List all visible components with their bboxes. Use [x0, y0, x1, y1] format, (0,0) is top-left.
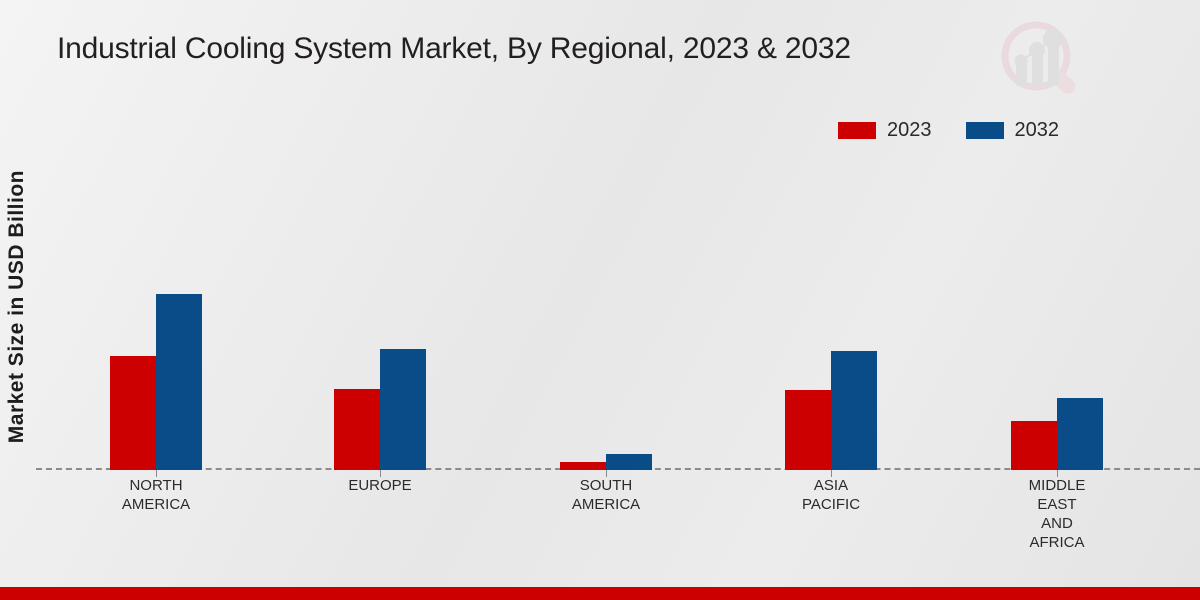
legend-label-2032: 2032: [1015, 120, 1060, 140]
magnifier-bar-chart-logo-icon: [995, 18, 1087, 106]
x-tick-label-middle-east-and-africa: MIDDLE EAST AND AFRICA: [997, 476, 1117, 552]
chart-legend: 2023 2032: [838, 120, 1059, 140]
y-axis-title-text: Market Size in USD Billion: [5, 170, 29, 443]
x-tick-label-south-america: SOUTH AMERICA: [546, 476, 666, 514]
legend-item-2023[interactable]: 2023: [838, 120, 932, 140]
legend-swatch-2032-icon: [966, 122, 1004, 139]
bar-fill: [785, 390, 831, 470]
bar-pair: [1011, 150, 1103, 470]
legend-item-2032[interactable]: 2032: [966, 120, 1060, 140]
bar-fill: [831, 351, 877, 470]
bar-fill: [606, 454, 652, 470]
footer-accent-bar: [0, 587, 1200, 600]
y-axis-title: Market Size in USD Billion: [0, 170, 34, 495]
x-tick-label-europe: EUROPE: [320, 476, 440, 495]
x-tick-label-north-america: NORTH AMERICA: [96, 476, 216, 514]
chart-title: Industrial Cooling System Market, By Reg…: [57, 32, 851, 66]
bar-pair: [785, 150, 877, 470]
bar-fill: [1057, 398, 1103, 470]
legend-label-2023: 2023: [887, 120, 932, 140]
chart-canvas: Industrial Cooling System Market, By Reg…: [0, 0, 1200, 600]
bar-pair: 5.01: [110, 150, 202, 470]
legend-swatch-2023-icon: [838, 122, 876, 139]
bar-fill: [1011, 421, 1057, 470]
bar-fill: [380, 349, 426, 470]
plot-area: 5.01: [36, 150, 1200, 470]
bar-fill: [156, 294, 202, 470]
bar-fill: [110, 356, 156, 470]
bar-pair: [560, 150, 652, 470]
bar-pair: [334, 150, 426, 470]
bar-fill: [334, 389, 380, 470]
x-tick-label-asia-pacific: ASIA PACIFIC: [771, 476, 891, 514]
bar-fill: [560, 462, 606, 470]
